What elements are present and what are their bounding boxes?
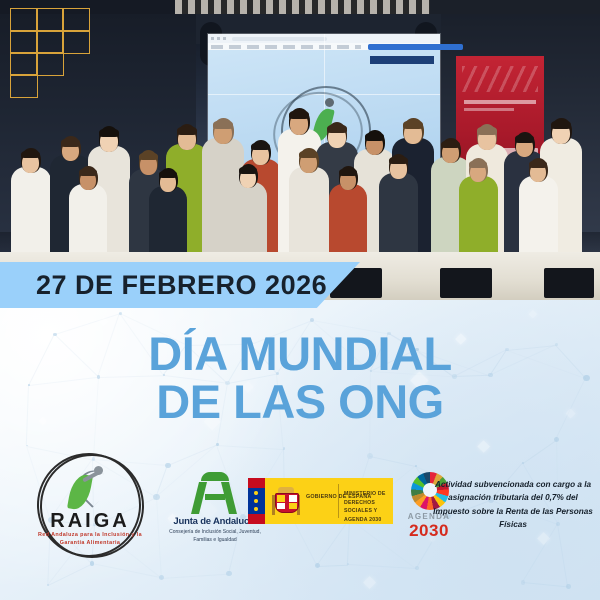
person-hair-top <box>477 126 497 135</box>
network-node <box>216 443 218 445</box>
raiga-logo: RAIGA Red Andaluza para la Inclusión y l… <box>26 452 154 560</box>
person-hair-top <box>21 150 40 158</box>
title-line-1: DÍA MUNDIAL <box>0 330 600 378</box>
grid-cell <box>62 30 90 54</box>
raiga-tagline: Red Andaluza para la Inclusión y la Gara… <box>34 531 146 548</box>
network-node <box>310 318 314 322</box>
date-banner: 27 DE FEBRERO 2026 <box>0 262 360 308</box>
gobierno-divider <box>338 484 339 518</box>
gobierno-espana-logo: GOBIERNO DE ESPAÑA MINISTERIO DE DERECHO… <box>248 478 393 524</box>
network-link <box>348 564 417 569</box>
logo-strip: RAIGA Red Andaluza para la Inclusión y l… <box>0 450 600 560</box>
grid-cell <box>10 8 38 32</box>
person-hair-top <box>159 170 177 178</box>
browser-url-bar <box>232 37 327 41</box>
network-node <box>315 563 320 568</box>
network-node <box>226 571 231 576</box>
network-link <box>523 582 568 587</box>
browser-bookmarks <box>211 45 361 49</box>
grid-cell <box>36 8 64 32</box>
network-node <box>554 437 559 442</box>
network-node <box>415 566 419 570</box>
chair <box>440 268 492 298</box>
person-hair-top <box>327 124 347 133</box>
person-hair-top <box>365 132 384 141</box>
grid-cell <box>10 30 38 54</box>
grid-cell <box>10 52 38 76</box>
network-link <box>317 564 348 566</box>
rollup-text-2 <box>464 108 514 111</box>
rollup-text-1 <box>464 100 536 104</box>
network-node <box>90 561 95 566</box>
lower-section: DÍA MUNDIAL DE LAS ONG RAIGA Red Andaluz… <box>0 300 600 600</box>
person-hair-top <box>177 126 197 135</box>
network-node <box>159 575 164 580</box>
title-line-2: DE LAS ONG <box>0 378 600 426</box>
screen-button <box>370 56 434 64</box>
person-hair-top <box>441 140 460 148</box>
spain-coat-of-arms-icon <box>272 487 300 515</box>
grid-cell <box>62 8 90 32</box>
page-title: DÍA MUNDIAL DE LAS ONG <box>0 330 600 426</box>
person-hair-top <box>469 160 487 168</box>
network-node <box>47 584 49 586</box>
rollup-graphic <box>462 66 538 92</box>
person-hair-top <box>289 110 309 119</box>
browser-nav-dots <box>211 37 227 40</box>
network-node <box>566 584 571 589</box>
person-hair-top <box>339 168 357 176</box>
person-hair-top <box>251 142 270 150</box>
ministerio-label: MINISTERIO DE DERECHOS SOCIALES Y AGENDA… <box>344 490 393 524</box>
person-hair-top <box>213 120 233 129</box>
person-hair-top <box>515 134 534 143</box>
grid-cell <box>10 74 38 98</box>
person-hair-top <box>389 156 408 164</box>
date-text: 27 DE FEBRERO 2026 <box>36 270 327 301</box>
raiga-name: RAIGA <box>26 510 154 533</box>
grid-cell <box>36 30 64 54</box>
network-link <box>161 573 229 578</box>
grid-cell <box>36 52 64 76</box>
person-hair-top <box>529 160 547 168</box>
subvention-text: Actividad subvencionada con cargo a la a… <box>432 478 594 531</box>
network-node <box>119 312 122 315</box>
network-link <box>217 445 284 450</box>
person-hair-top <box>299 150 318 158</box>
poster: RAIGA Red Andaluza para la Inclusión y l… <box>0 0 600 600</box>
raiga-person-head-icon <box>94 466 103 475</box>
junta-arch-icon <box>195 472 235 514</box>
person-hair-top <box>99 128 119 137</box>
browser-highlight <box>368 44 463 50</box>
person-hair-top <box>139 152 158 160</box>
network-node <box>521 580 526 585</box>
person-hair-top <box>61 138 80 147</box>
person-hair-top <box>551 120 571 129</box>
person-hair-top <box>79 168 97 176</box>
corner-grid-decoration <box>10 8 98 82</box>
network-sparkle <box>363 576 376 589</box>
screen-logo-person <box>325 98 334 107</box>
network-sparkle <box>529 310 537 318</box>
person-hair-top <box>403 120 423 129</box>
event-photo: RAIGA Red Andaluza para la Inclusión y l… <box>0 0 600 300</box>
junta-subtitle: Consejería de Inclusión Social, Juventud… <box>163 528 267 544</box>
spain-flag-icon <box>248 478 265 524</box>
chair <box>544 268 594 298</box>
person-hair-top <box>239 166 257 174</box>
